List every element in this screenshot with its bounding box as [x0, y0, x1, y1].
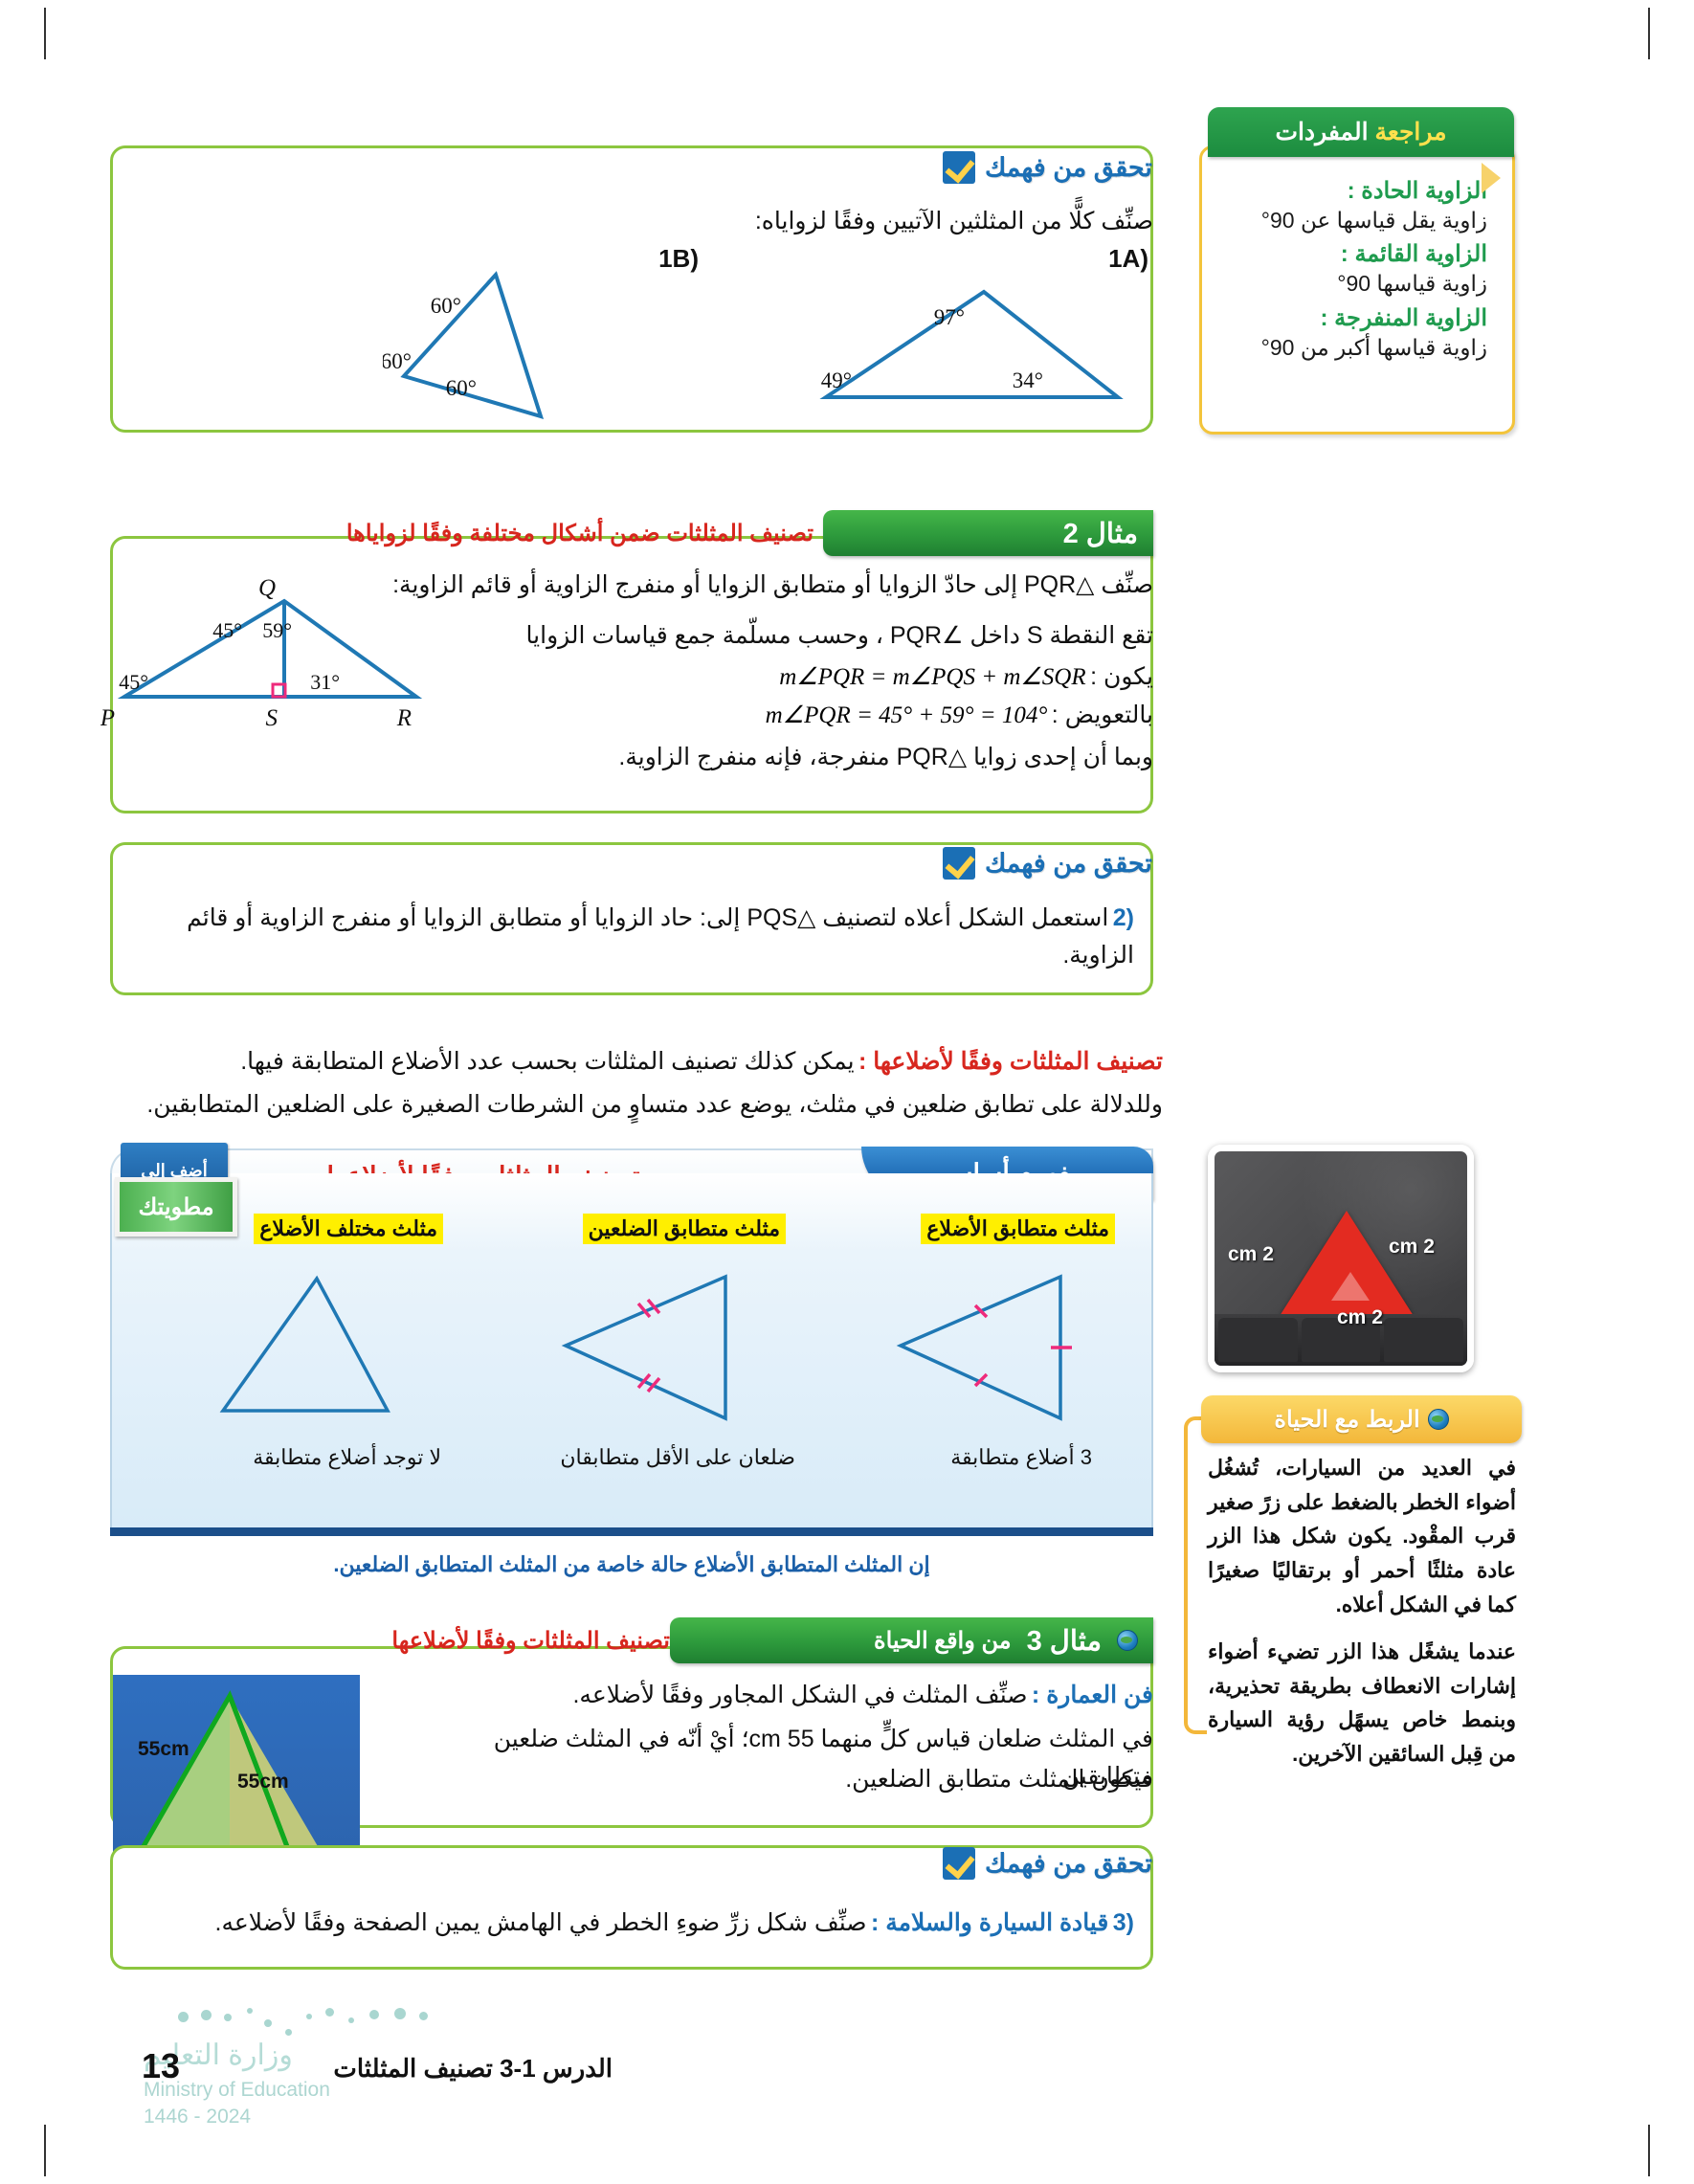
example-3-title: تصنيف المثلثات وفقًا لأضلاعها	[391, 1627, 670, 1655]
check1-prompt: صنِّف كلًّا من المثلثين الآتيين وفقًا لز…	[287, 203, 1153, 240]
hazard-label-base: 2 cm	[1337, 1306, 1383, 1329]
page-number: 13	[142, 2046, 180, 2086]
check2-header: تحقق من فهمك	[943, 847, 1152, 880]
hazard-label-right: 2 cm	[1389, 1236, 1435, 1259]
check2-text: استعمل الشكل أعلاه لتصنيف △PQS إلى: حاد …	[187, 904, 1134, 969]
vocab-head-part2: المفردات	[1275, 118, 1368, 146]
crop-mark-bottom-left	[44, 2125, 46, 2176]
crop-mark-top-left	[44, 8, 46, 59]
real-life-text: في العديد من السيارات، تُشغُل أضواء الخط…	[1208, 1451, 1516, 1785]
vocab-def-acute: زاوية يقل قياسها عن 90°	[1219, 205, 1487, 236]
example-2-line3-label: بالتعويض :	[1052, 702, 1153, 728]
foldable-tab-bottom: مطويتك	[115, 1177, 237, 1237]
example-2-line3-math: m∠PQR = 45° + 59° = 104°	[766, 702, 1048, 728]
kc-label-scalene: مثلث مختلف الأضلاع	[254, 1214, 443, 1244]
check3-item: (3 قيادة السيارة والسلامة : صنِّف شكل زر…	[139, 1905, 1134, 1942]
dash-button	[1384, 1318, 1463, 1362]
foldable-tab: أضف إلى مطويتك	[115, 1139, 239, 1254]
svg-text:31°: 31°	[310, 670, 340, 694]
vocab-term-acute: الزاوية الحادة :	[1219, 177, 1487, 205]
vocab-term-obtuse: الزاوية المنفرجة :	[1219, 304, 1487, 332]
kc-caption-scalene: لا توجد أضلاع متطابقة	[253, 1445, 441, 1470]
example-2-number: مثال 2	[1063, 517, 1138, 550]
kc-caption-equilateral: 3 أضلاع متطابقة	[950, 1445, 1092, 1470]
check3-number: (3	[1113, 1909, 1134, 1936]
check3-topic: قيادة السيارة والسلامة :	[871, 1909, 1108, 1936]
svg-text:60°: 60°	[446, 376, 477, 400]
svg-text:34°: 34°	[1013, 368, 1043, 392]
svg-text:60°: 60°	[383, 349, 412, 373]
check3-text: صنِّف شكل زرِّ ضوءِ الخطر في الهامش يمين…	[215, 1909, 867, 1936]
check3-header: تحقق من فهمك	[943, 1847, 1152, 1880]
footer-lesson-title: الدرس 1-3 تصنيف المثلثات	[191, 2054, 613, 2084]
check2-item: (2 استعمل الشكل أعلاه لتصنيف △PQS إلى: ح…	[139, 900, 1134, 974]
pyramid-label-right: 55cm	[237, 1771, 289, 1794]
checkmark-icon	[943, 1847, 975, 1880]
kc-figure-equilateral	[883, 1258, 1094, 1435]
real-life-head-label: الربط مع الحياة	[1274, 1406, 1419, 1434]
check1-header: تحقق من فهمك	[943, 151, 1152, 184]
svg-text:Q: Q	[258, 575, 276, 601]
example-2-ribbon: مثال 2	[823, 510, 1153, 556]
svg-text:R: R	[396, 705, 412, 731]
kc-label-isosceles: مثلث متطابق الضلعين	[583, 1214, 786, 1244]
vocab-pointer-icon	[1482, 163, 1501, 193]
example-2-line4: وبما أن إحدى زوايا △PQR منفرجة، فإنه منف…	[412, 739, 1153, 776]
real-life-para-1: في العديد من السيارات، تُشغُل أضواء الخط…	[1208, 1451, 1516, 1621]
figure-triangle-1a: (1A 97° 49° 34°	[804, 244, 1148, 416]
key-concept-note: إن المثلث المتطابق الأضلاع حالة خاصة من …	[110, 1552, 1153, 1577]
sides-paragraph: تصنيف المثلثات وفقًا لأضلاعها : يمكن كذل…	[134, 1043, 1163, 1081]
kc-label-equilateral: مثلث متطابق الأضلاع	[921, 1214, 1115, 1244]
real-life-para-2: عندما يشغًل هذا الزر تضيء أضواء إشارات ا…	[1208, 1635, 1516, 1772]
vocabulary-review-header: مراجعة المفردات	[1208, 107, 1514, 157]
vocab-head-part1: مراجعة	[1374, 118, 1446, 146]
vocab-def-right: زاوية قياسها 90°	[1219, 268, 1487, 300]
example-3-number: مثال 3	[1027, 1624, 1102, 1658]
example-3-subtitle: من واقع الحياة	[874, 1627, 1012, 1655]
svg-text:45°: 45°	[212, 618, 242, 642]
kc-figure-isosceles	[548, 1258, 759, 1435]
example-2-title: تصنيف المثلثات ضمن أشكال مختلفة وفقًا لز…	[346, 520, 814, 547]
svg-text:59°: 59°	[262, 618, 292, 642]
example-2-line2: يكون : m∠PQR = m∠PQS + m∠SQR	[412, 658, 1153, 696]
kc-figure-scalene	[204, 1258, 424, 1435]
hazard-triangle-inner-icon	[1331, 1272, 1370, 1301]
crop-mark-bottom-right	[1648, 2125, 1650, 2176]
checkmark-icon	[943, 151, 975, 184]
decorative-dots	[172, 2004, 479, 2042]
figure-triangle-pqr: Q P S R 45° 59° 45° 31°	[91, 574, 435, 737]
globe-icon	[1428, 1409, 1449, 1430]
hazard-button-photo: 2 cm 2 cm 2 cm	[1208, 1145, 1474, 1372]
figure-triangle-1b: (1B 60° 60° 60°	[383, 244, 699, 416]
svg-text:45°: 45°	[119, 670, 148, 694]
pyramid-label-left: 55cm	[138, 1738, 189, 1761]
key-concept-bottom-bar	[110, 1527, 1153, 1536]
sides-heading: تصنيف المثلثات وفقًا لأضلاعها :	[858, 1048, 1163, 1075]
example-3-line2: فيكون المثلث متطابق الضلعين.	[412, 1761, 1153, 1798]
example-3-topic-line: فن العمارة : صنِّف المثلث في الشكل المجا…	[412, 1677, 1153, 1714]
crop-mark-top-right	[1648, 8, 1650, 59]
sides-line1: يمكن كذلك تصنيف المثلثات بحسب عدد الأضلا…	[240, 1048, 854, 1075]
svg-text:S: S	[266, 705, 279, 731]
checkmark-icon	[943, 847, 975, 880]
example-2-line3: بالتعويض : m∠PQR = 45° + 59° = 104°	[412, 697, 1153, 734]
example-2-line2-math: m∠PQR = m∠PQS + m∠SQR	[779, 664, 1085, 690]
watermark-year: 2024 - 1446	[144, 2106, 251, 2128]
vocab-term-right: الزاوية القائمة :	[1219, 240, 1487, 268]
svg-text:97°: 97°	[934, 305, 965, 329]
key-concept-body: مثلث متطابق الأضلاع 3 أضلاع متطابقة مثلث…	[110, 1173, 1153, 1532]
real-life-header: الربط مع الحياة	[1201, 1395, 1522, 1443]
svg-text:49°: 49°	[821, 368, 852, 392]
kc-caption-isosceles: ضلعان على الأقل متطابقان	[560, 1445, 795, 1470]
globe-icon	[1117, 1630, 1138, 1651]
example-2-line2-label: يكون :	[1090, 663, 1153, 690]
sides-line2: وللدلالة على تطابق ضلعين في مثلث، يوضع ع…	[134, 1086, 1163, 1124]
example-3-ribbon: مثال 3 من واقع الحياة	[670, 1617, 1153, 1663]
extra-button	[1218, 1318, 1298, 1362]
example-2-line1: تقع النقطة S داخل ∠PQR ، وحسب مسلّمة جمع…	[412, 617, 1153, 655]
textbook-page: الزاوية الحادة : زاوية يقل قياسها عن 90°…	[0, 0, 1694, 2184]
check1-title: تحقق من فهمك	[985, 153, 1152, 183]
vocab-def-obtuse: زاوية قياسها أكبر من 90°	[1219, 332, 1487, 364]
check2-number: (2	[1113, 904, 1134, 931]
svg-text:60°: 60°	[431, 294, 461, 318]
example-3-topic: فن العمارة :	[1032, 1682, 1153, 1708]
hazard-label-left: 2 cm	[1228, 1243, 1274, 1266]
svg-text:P: P	[100, 705, 115, 731]
check3-title: تحقق من فهمك	[985, 1849, 1152, 1879]
real-life-frame	[1184, 1416, 1207, 1734]
example-3-prompt: صنِّف المثلث في الشكل المجاور وفقًا لأضل…	[572, 1682, 1027, 1708]
check2-title: تحقق من فهمك	[985, 849, 1152, 879]
vocabulary-review-box: الزاوية الحادة : زاوية يقل قياسها عن 90°…	[1199, 145, 1515, 435]
